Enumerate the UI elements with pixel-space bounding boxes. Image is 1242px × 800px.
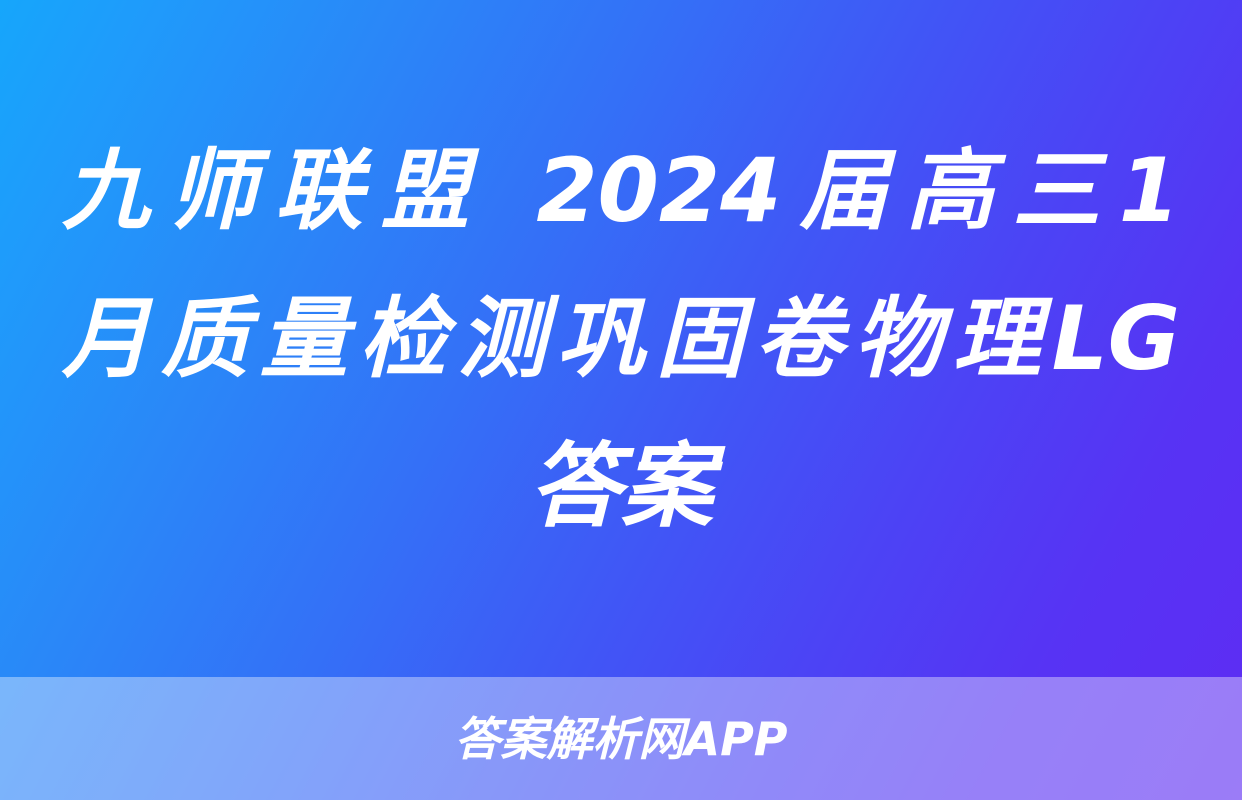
title-line-3: 答案 (62, 413, 1180, 561)
poster-canvas: 九师联盟 2024届高三1 月质量检测巩固卷物理LG 答案 答案解析网APP (0, 0, 1242, 800)
footer-band: 答案解析网APP (0, 677, 1242, 800)
title-line-2: 月质量检测巩固卷物理LG (62, 265, 1180, 413)
footer-brand-label: 答案解析网APP (454, 713, 787, 765)
title-line-1: 九师联盟 2024届高三1 (62, 117, 1180, 265)
title-block: 九师联盟 2024届高三1 月质量检测巩固卷物理LG 答案 (0, 0, 1242, 677)
